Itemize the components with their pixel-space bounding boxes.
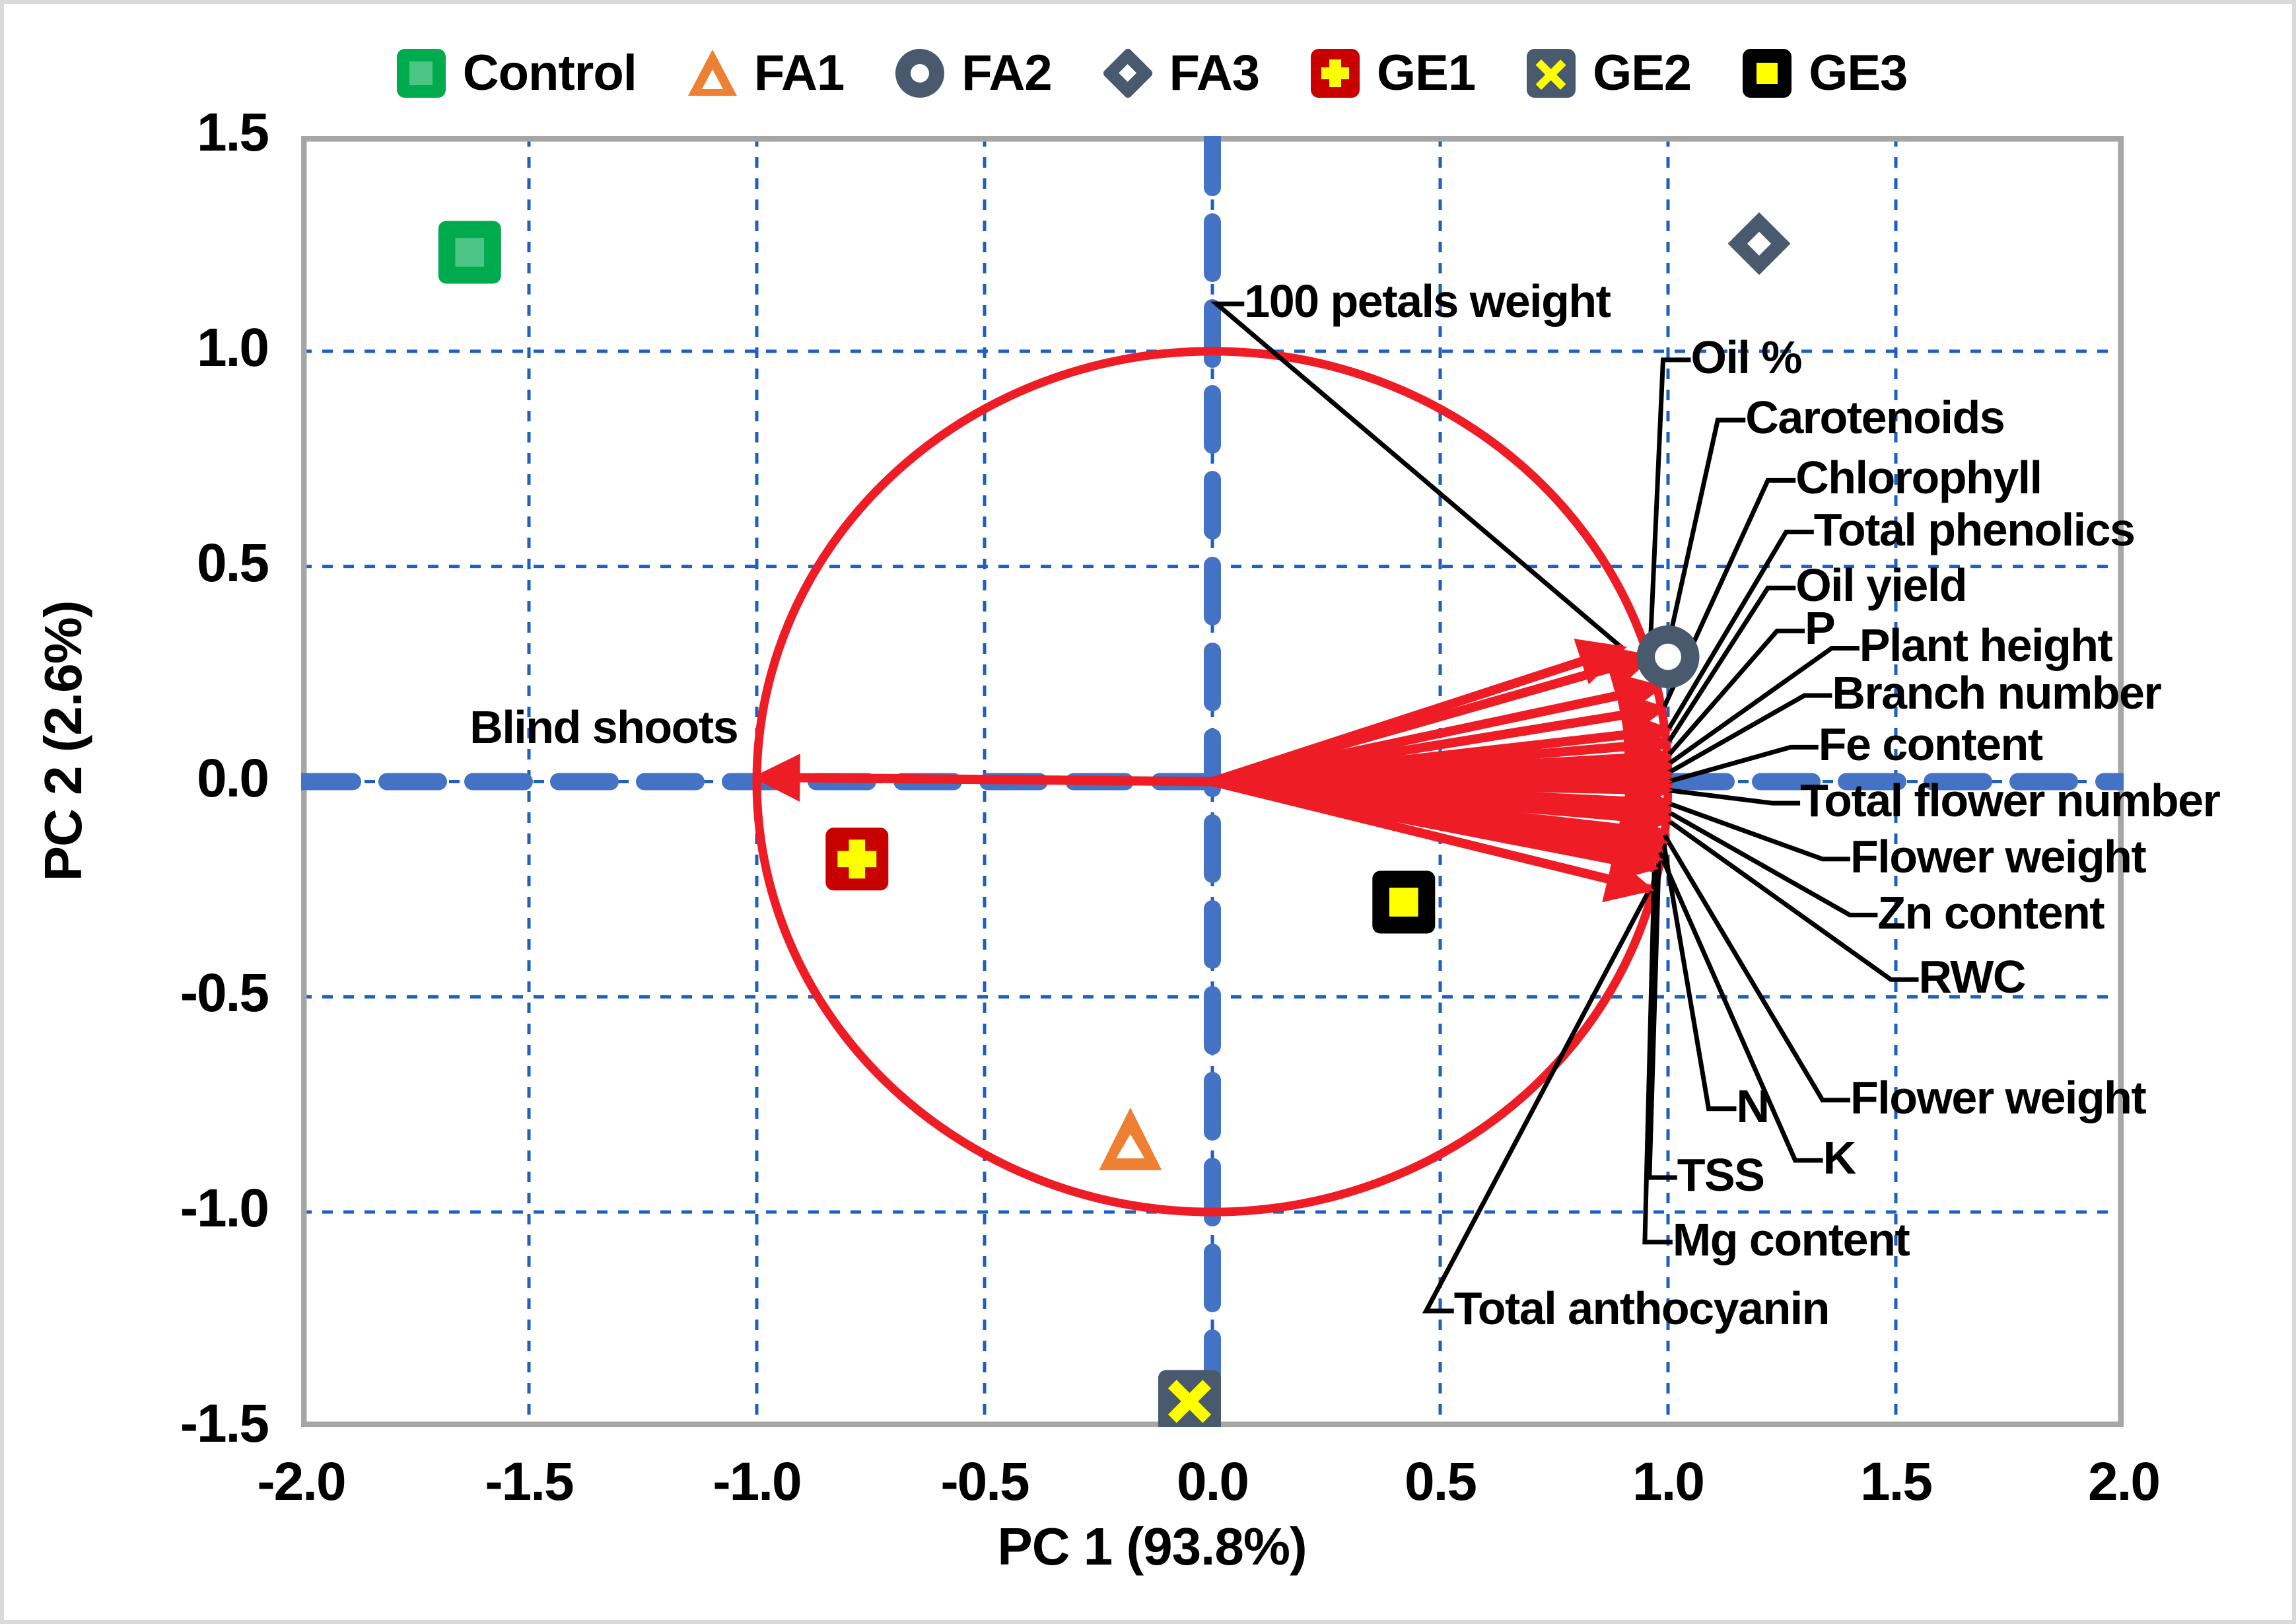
variable-label: Flower weight (1850, 1075, 2145, 1121)
score-markers (438, 212, 1791, 1427)
variable-label: Carotenoids (1745, 394, 2004, 441)
legend-item-ge3[interactable]: GE3 (1743, 48, 1907, 98)
y-axis-title: PC 2 (2.6%) (33, 279, 94, 1203)
x-tick-label: 0.5 (1341, 1451, 1539, 1513)
square-black-marker-icon (1743, 49, 1792, 98)
variable-label: P (1805, 605, 1834, 651)
variable-label: 100 petals weight (1244, 278, 1610, 324)
variable-label: Blind shoots (470, 704, 738, 750)
variable-label: RWC (1919, 954, 2025, 1000)
variable-label: TSS (1677, 1152, 1764, 1198)
circle-slate-marker-icon (895, 49, 944, 98)
x-tick-label: -2.0 (202, 1451, 400, 1513)
legend-label: GE2 (1593, 48, 1691, 98)
x-tick-label: 1.0 (1569, 1451, 1767, 1513)
y-tick-label: -1.0 (77, 1178, 268, 1240)
legend-label: FA2 (961, 48, 1051, 98)
legend-item-ge2[interactable]: GE2 (1527, 48, 1691, 98)
square-green-marker-icon (397, 49, 446, 98)
legend-item-fa3[interactable]: FA3 (1103, 48, 1259, 98)
variable-label: K (1823, 1135, 1856, 1181)
y-tick-label: 1.5 (77, 102, 268, 164)
variable-label: Branch number (1832, 670, 2161, 716)
variable-label: Oil yield (1795, 562, 1966, 608)
legend-label: FA1 (754, 48, 844, 98)
x-slate-marker-icon (1527, 49, 1576, 98)
legend-item-control[interactable]: Control (397, 48, 637, 98)
variable-label: Total anthocyanin (1454, 1285, 1829, 1331)
variable-label: N (1737, 1083, 1769, 1129)
x-tick-label: -0.5 (886, 1451, 1084, 1513)
x-tick-label: -1.0 (658, 1451, 856, 1513)
y-tick-label: -1.5 (77, 1393, 268, 1455)
x-tick-label: 1.5 (1797, 1451, 1995, 1513)
variable-label: Flower weight (1850, 833, 2145, 880)
plus-red-marker-icon (1311, 49, 1360, 98)
plot-area: 100 petals weightOil %CarotenoidsChlorop… (301, 136, 2124, 1427)
variable-label: Chlorophyll (1795, 454, 2041, 501)
legend-label: GE1 (1377, 48, 1475, 98)
x-axis-title: PC 1 (93.8%) (4, 1516, 2296, 1577)
triangle-orange-marker-icon (688, 49, 737, 98)
legend-item-fa1[interactable]: FA1 (688, 48, 844, 98)
y-tick-label: -0.5 (77, 962, 268, 1024)
variable-label: Oil % (1691, 334, 1802, 380)
variable-label: Fe content (1819, 721, 2042, 767)
legend-item-ge1[interactable]: GE1 (1311, 48, 1475, 98)
x-tick-label: -1.5 (430, 1451, 628, 1513)
variable-label: Mg content (1673, 1217, 1909, 1263)
y-tick-label: 1.0 (77, 317, 268, 379)
x-tick-label: 0.0 (1113, 1451, 1311, 1513)
variable-label: Zn content (1877, 890, 2104, 936)
legend-label: FA3 (1169, 48, 1259, 98)
variable-label: Plant height (1860, 622, 2112, 668)
x-tick-label: 2.0 (2025, 1451, 2223, 1513)
legend-label: Control (463, 48, 637, 98)
y-tick-label: 0.0 (77, 748, 268, 810)
variable-label: Total phenolics (1814, 507, 2135, 553)
legend-item-fa2[interactable]: FA2 (895, 48, 1051, 98)
legend-label: GE3 (1809, 48, 1907, 98)
chart-legend: Control FA1 FA2 FA3 GE1 GE2 GE3 (4, 37, 2296, 110)
diamond-slate-marker-icon (1103, 49, 1152, 98)
variable-label: Total flower number (1800, 777, 2219, 824)
pca-biplot-figure: Control FA1 FA2 FA3 GE1 GE2 GE3 (0, 0, 2296, 1624)
y-tick-label: 0.5 (77, 532, 268, 594)
